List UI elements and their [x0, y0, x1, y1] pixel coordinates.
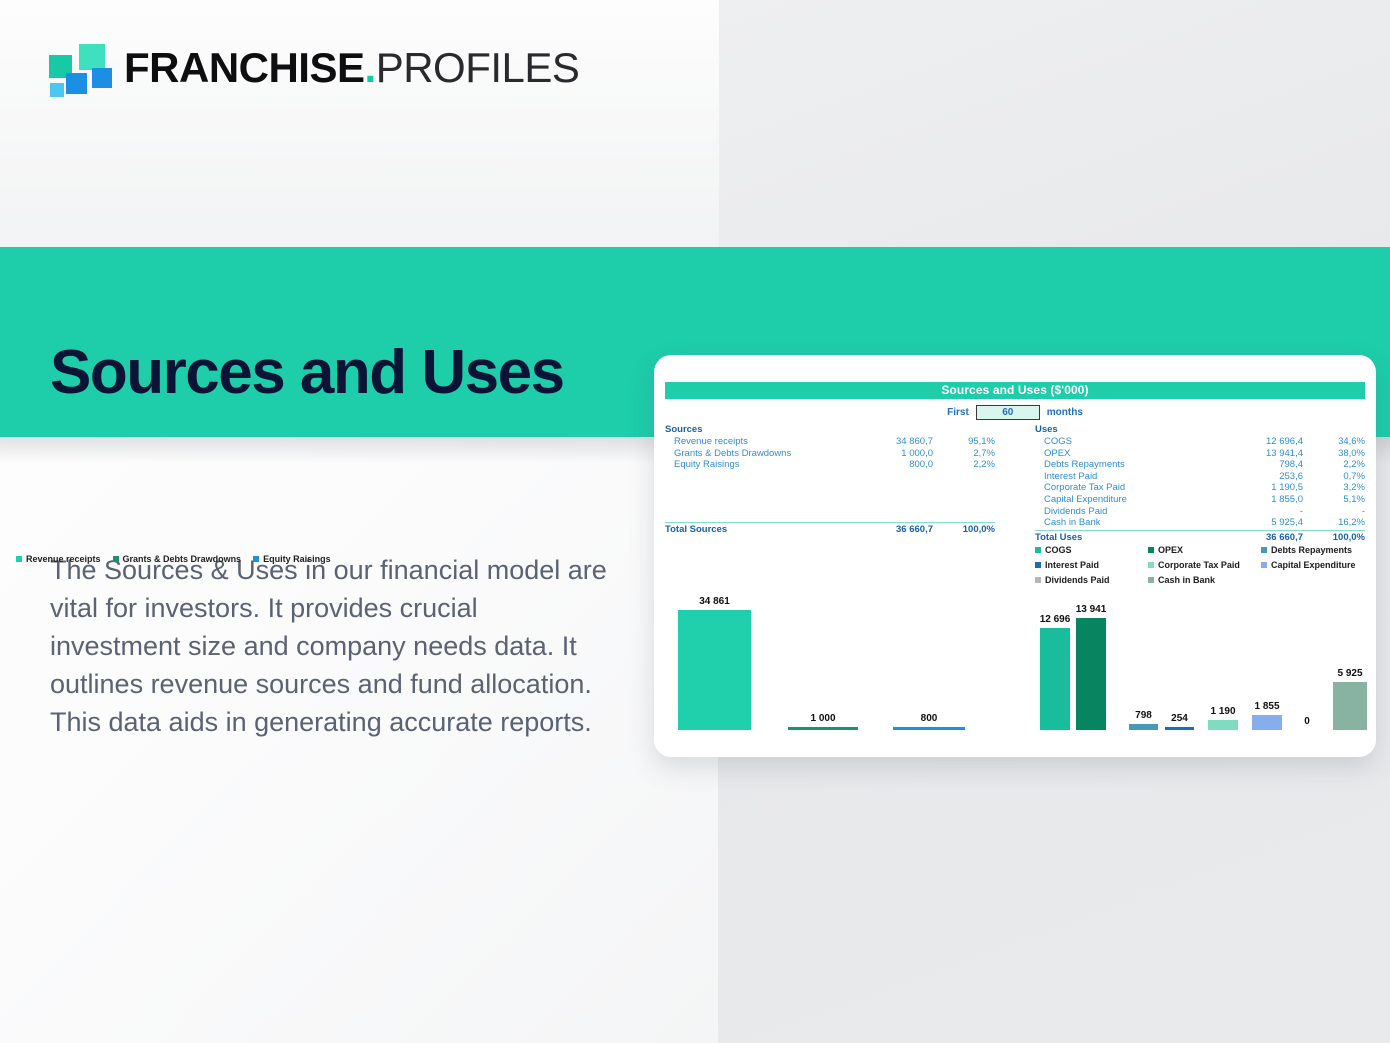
legend-swatch-icon	[1035, 577, 1041, 583]
bar	[893, 727, 965, 730]
legend-item[interactable]: Equity Raisings	[253, 554, 331, 564]
sources-total-value: 36 660,7	[861, 524, 933, 536]
legend-label: Cash in Bank	[1158, 575, 1215, 585]
bar	[788, 727, 858, 730]
sources-row-pct: 2,7%	[933, 448, 995, 460]
sources-row-name: Grants & Debts Drawdowns	[665, 448, 861, 460]
sheet-title: Sources and Uses ($'000)	[665, 382, 1365, 399]
legend-label: Revenue receipts	[26, 554, 101, 564]
legend-swatch-icon	[16, 556, 22, 562]
legend-swatch-icon	[113, 556, 119, 562]
legend-swatch-icon	[1261, 547, 1267, 553]
uses-row-pct: 2,2%	[1303, 459, 1365, 471]
uses-row-name: Debts Repayments	[1035, 459, 1231, 471]
bar-column: 798	[1129, 600, 1158, 730]
sources-table-body: Revenue receipts34 860,795,1%Grants & De…	[665, 436, 995, 471]
sources-chart-legend: Revenue receiptsGrants & Debts Drawdowns…	[16, 554, 356, 564]
sources-row-pct: 2,2%	[933, 459, 995, 471]
bar-column: 1 855	[1252, 600, 1282, 730]
legend-swatch-icon	[1148, 562, 1154, 568]
legend-item[interactable]: Capital Expenditure	[1261, 560, 1374, 570]
sources-total-row: Total Sources 36 660,7 100,0%	[665, 522, 995, 536]
sources-row-pct: 95,1%	[933, 436, 995, 448]
bar	[1129, 724, 1158, 730]
legend-item[interactable]: Grants & Debts Drawdowns	[113, 554, 242, 564]
uses-row-name: Corporate Tax Paid	[1035, 482, 1231, 494]
legend-label: Debts Repayments	[1271, 545, 1352, 555]
table-row: OPEX13 941,438,0%	[1035, 448, 1365, 460]
sources-total-pct: 100,0%	[933, 524, 995, 536]
legend-item[interactable]: COGS	[1035, 545, 1148, 555]
legend-label: Grants & Debts Drawdowns	[123, 554, 242, 564]
legend-item[interactable]: Corporate Tax Paid	[1148, 560, 1261, 570]
uses-total-row: Total Uses 36 660,7 100,0%	[1035, 530, 1365, 544]
uses-row-pct: -	[1303, 506, 1365, 518]
uses-total-value: 36 660,7	[1231, 532, 1303, 544]
legend-swatch-icon	[1148, 547, 1154, 553]
uses-row-name: Interest Paid	[1035, 471, 1231, 483]
brand-name-light: PROFILES	[376, 44, 580, 91]
sources-row-name: Equity Raisings	[665, 459, 861, 471]
table-row: Dividends Paid--	[1035, 506, 1365, 518]
legend-swatch-icon	[1035, 562, 1041, 568]
sources-row-value: 800,0	[861, 459, 933, 471]
legend-label: Dividends Paid	[1045, 575, 1110, 585]
legend-label: Capital Expenditure	[1271, 560, 1356, 570]
sources-row-value: 1 000,0	[861, 448, 933, 460]
table-row: Revenue receipts34 860,795,1%	[665, 436, 995, 448]
page-title: Sources and Uses	[50, 342, 564, 404]
background-top-strip	[0, 0, 719, 247]
legend-item[interactable]: Cash in Bank	[1148, 575, 1261, 585]
legend-item[interactable]: Revenue receipts	[16, 554, 101, 564]
bar-column: 34 861	[678, 592, 751, 730]
uses-row-name: Cash in Bank	[1035, 517, 1231, 529]
sources-row-value: 34 860,7	[861, 436, 933, 448]
bar-column: 13 941	[1076, 600, 1106, 730]
uses-row-name: OPEX	[1035, 448, 1231, 460]
bar-column: 12 696	[1040, 600, 1070, 730]
uses-row-value: 798,4	[1231, 459, 1303, 471]
table-row: Grants & Debts Drawdowns1 000,02,7%	[665, 448, 995, 460]
table-row: Debts Repayments798,42,2%	[1035, 459, 1365, 471]
bar-value-label: 34 861	[699, 596, 730, 607]
legend-label: COGS	[1045, 545, 1072, 555]
uses-chart-legend: COGSOPEXDebts RepaymentsInterest PaidCor…	[1035, 545, 1380, 590]
uses-total-label: Total Uses	[1035, 532, 1231, 544]
bar	[1040, 628, 1070, 730]
bar-column: 0	[1292, 600, 1322, 730]
bar	[1252, 715, 1282, 730]
legend-item[interactable]: Interest Paid	[1035, 560, 1148, 570]
uses-row-pct: 16,2%	[1303, 517, 1365, 529]
uses-row-pct: 0,7%	[1303, 471, 1365, 483]
brand-name-bold: FRANCHISE	[124, 44, 365, 91]
uses-row-value: -	[1231, 506, 1303, 518]
bar-value-label: 5 925	[1337, 668, 1362, 679]
bar-value-label: 254	[1171, 713, 1188, 724]
uses-table-header: Uses	[1035, 424, 1365, 435]
legend-swatch-icon	[253, 556, 259, 562]
legend-item[interactable]: OPEX	[1148, 545, 1261, 555]
sources-table-header: Sources	[665, 424, 995, 435]
bar-value-label: 1 000	[810, 713, 835, 724]
bar-value-label: 0	[1304, 716, 1310, 727]
uses-row-value: 12 696,4	[1231, 436, 1303, 448]
legend-item[interactable]: Dividends Paid	[1035, 575, 1148, 585]
bar-column: 5 925	[1333, 600, 1367, 730]
sources-total-label: Total Sources	[665, 524, 861, 536]
uses-row-pct: 5,1%	[1303, 494, 1365, 506]
uses-row-pct: 38,0%	[1303, 448, 1365, 460]
sources-bar-chart: 34 8611 000800	[678, 592, 988, 730]
period-selector-row: First 60 months	[665, 404, 1365, 420]
bar	[1208, 720, 1238, 730]
uses-row-value: 13 941,4	[1231, 448, 1303, 460]
table-row: Interest Paid253,60,7%	[1035, 471, 1365, 483]
bar	[1076, 618, 1106, 730]
legend-label: Equity Raisings	[263, 554, 331, 564]
uses-row-value: 253,6	[1231, 471, 1303, 483]
legend-swatch-icon	[1148, 577, 1154, 583]
uses-row-name: Dividends Paid	[1035, 506, 1231, 518]
sources-table: Sources Revenue receipts34 860,795,1%Gra…	[665, 424, 995, 536]
brand-name-dot: .	[365, 44, 376, 91]
bar-value-label: 800	[921, 713, 938, 724]
period-prefix-label: First	[947, 407, 969, 418]
uses-row-value: 5 925,4	[1231, 517, 1303, 529]
logo-squares-icon	[48, 42, 106, 94]
bar-column: 1 000	[788, 592, 858, 730]
uses-row-pct: 34,6%	[1303, 436, 1365, 448]
bar-column: 254	[1165, 600, 1194, 730]
intro-paragraph: The Sources & Uses in our financial mode…	[50, 551, 610, 741]
period-months-input[interactable]: 60	[976, 405, 1040, 420]
table-row: Corporate Tax Paid1 190,53,2%	[1035, 482, 1365, 494]
bar-column: 800	[893, 592, 965, 730]
legend-item[interactable]: Debts Repayments	[1261, 545, 1374, 555]
bar-value-label: 12 696	[1040, 614, 1071, 625]
sources-row-name: Revenue receipts	[665, 436, 861, 448]
bar	[1333, 682, 1367, 730]
brand-logo: FRANCHISE.PROFILES	[48, 42, 579, 94]
bar-value-label: 1 190	[1210, 706, 1235, 717]
table-row: Cash in Bank5 925,416,2%	[1035, 517, 1365, 529]
period-suffix-label: months	[1047, 407, 1083, 418]
bar	[678, 610, 751, 730]
legend-label: Corporate Tax Paid	[1158, 560, 1240, 570]
table-row: COGS12 696,434,6%	[1035, 436, 1365, 448]
uses-table-body: COGS12 696,434,6%OPEX13 941,438,0%Debts …	[1035, 436, 1365, 529]
uses-row-name: Capital Expenditure	[1035, 494, 1231, 506]
legend-swatch-icon	[1035, 547, 1041, 553]
uses-row-value: 1 855,0	[1231, 494, 1303, 506]
uses-row-value: 1 190,5	[1231, 482, 1303, 494]
bar-column: 1 190	[1208, 600, 1238, 730]
legend-swatch-icon	[1261, 562, 1267, 568]
bar-value-label: 13 941	[1076, 604, 1107, 615]
brand-wordmark: FRANCHISE.PROFILES	[124, 47, 579, 89]
uses-bar-chart: 12 69613 9417982541 1901 85505 925	[1040, 600, 1368, 730]
legend-label: Interest Paid	[1045, 560, 1099, 570]
legend-label: OPEX	[1158, 545, 1183, 555]
uses-table: Uses COGS12 696,434,6%OPEX13 941,438,0%D…	[1035, 424, 1365, 544]
bar-value-label: 798	[1135, 710, 1152, 721]
table-row: Capital Expenditure1 855,05,1%	[1035, 494, 1365, 506]
table-row: Equity Raisings800,02,2%	[665, 459, 995, 471]
uses-row-pct: 3,2%	[1303, 482, 1365, 494]
uses-row-name: COGS	[1035, 436, 1231, 448]
bar-value-label: 1 855	[1254, 701, 1279, 712]
bar	[1165, 727, 1194, 730]
uses-total-pct: 100,0%	[1303, 532, 1365, 544]
